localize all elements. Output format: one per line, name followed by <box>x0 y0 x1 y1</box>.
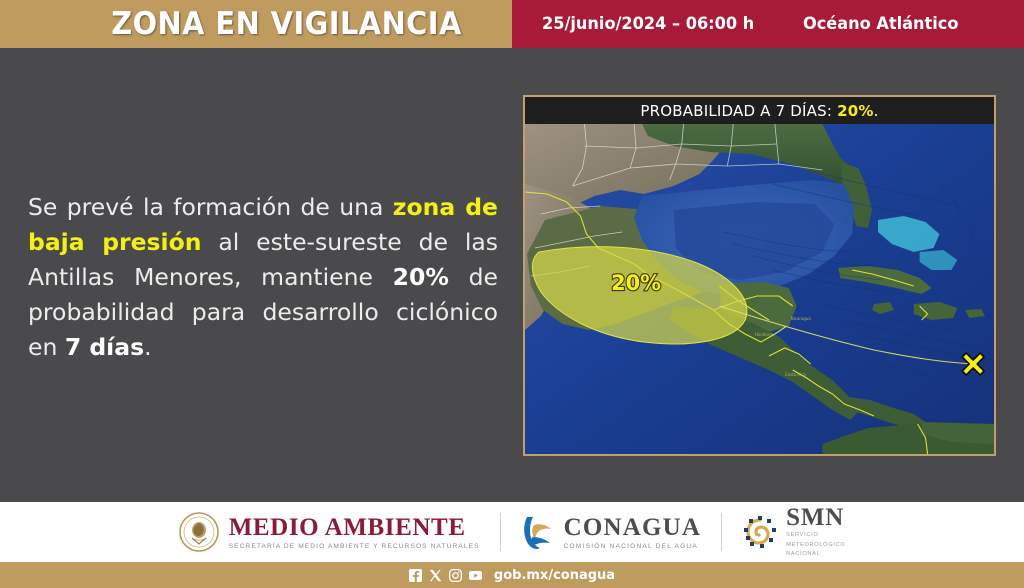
page-title: ZONA EN VIGILANCIA <box>111 6 462 42</box>
satellite-map[interactable]: 20% Honduras Costa Rica Nicaragua <box>525 124 994 456</box>
map-caption-suffix: . <box>874 102 879 120</box>
smn-title: SMN <box>786 505 845 530</box>
instagram-icon[interactable] <box>449 569 462 582</box>
mexico-seal-icon <box>179 512 219 552</box>
medio-ambiente-subtitle: SECRETARÍA DE MEDIO AMBIENTE Y RECURSOS … <box>229 543 480 550</box>
logo-conagua: CONAGUA COMISIÓN NACIONAL DEL AGUA <box>521 513 702 551</box>
header-info-band: 25/junio/2024 – 06:00 h Océano Atlántico <box>512 0 1024 48</box>
map-caption-label: PROBABILIDAD A 7 DÍAS: <box>640 102 832 120</box>
map-probability-caption: PROBABILIDAD A 7 DÍAS: 20% . <box>525 97 994 124</box>
summary-part-1: Se prevé la formación de una <box>28 193 393 221</box>
summary-highlight-percent: 20% <box>393 263 449 291</box>
medio-ambiente-title: MEDIO AMBIENTE <box>229 515 480 541</box>
forecast-summary-text: Se prevé la formación de una zona de baj… <box>28 190 498 365</box>
facebook-icon[interactable] <box>409 569 422 582</box>
youtube-icon[interactable] <box>469 569 482 582</box>
social-bar: gob.mx/conagua <box>0 562 1024 588</box>
footer-logos: MEDIO AMBIENTE SECRETARÍA DE MEDIO AMBIE… <box>0 502 1024 562</box>
conagua-subtitle: COMISIÓN NACIONAL DEL AGUA <box>564 543 702 550</box>
svg-text:Nicaragua: Nicaragua <box>791 316 812 321</box>
site-url-label[interactable]: gob.mx/conagua <box>494 568 615 583</box>
logo-medio-ambiente: MEDIO AMBIENTE SECRETARÍA DE MEDIO AMBIE… <box>179 512 480 552</box>
map-caption-value: 20% <box>837 102 874 120</box>
header-title-band: ZONA EN VIGILANCIA <box>0 0 512 48</box>
conagua-eagle-water-icon <box>521 513 555 551</box>
smn-subtitle-line3: NACIONAL <box>786 551 845 558</box>
logo-smn: SMN SERVICIO METEOROLÓGICO NACIONAL <box>742 505 845 558</box>
summary-part-4: . <box>144 333 151 361</box>
cone-probability-label: 20% <box>611 271 661 295</box>
header-datetime: 25/junio/2024 – 06:00 h <box>542 14 754 34</box>
logo-divider-1 <box>500 513 501 551</box>
smn-subtitle-line2: METEOROLÓGICO <box>786 542 845 549</box>
svg-text:Honduras: Honduras <box>755 332 774 337</box>
conagua-title: CONAGUA <box>564 515 702 541</box>
summary-highlight-days: 7 días <box>65 333 144 361</box>
smn-spiral-icon <box>742 514 778 550</box>
header-basin-name: Océano Atlántico <box>803 14 958 34</box>
svg-text:Costa Rica: Costa Rica <box>785 372 806 377</box>
logo-divider-2 <box>721 513 722 551</box>
smn-subtitle-line1: SERVICIO <box>786 532 845 539</box>
map-panel[interactable]: PROBABILIDAD A 7 DÍAS: 20% . <box>523 95 996 456</box>
x-twitter-icon[interactable] <box>429 569 442 582</box>
map-graphic: 20% Honduras Costa Rica Nicaragua <box>525 124 994 456</box>
page-header: ZONA EN VIGILANCIA 25/junio/2024 – 06:00… <box>0 0 1024 48</box>
